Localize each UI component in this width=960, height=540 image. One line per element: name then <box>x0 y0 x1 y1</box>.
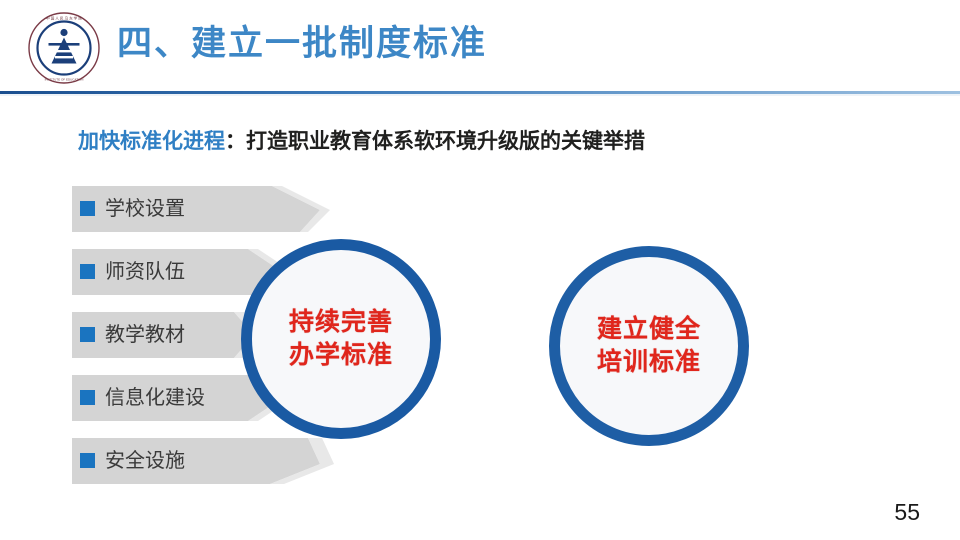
list-item-label: 安全设施 <box>105 446 185 476</box>
list-bullet-icon <box>80 390 95 405</box>
subtitle-rest: ：打造职业教育体系软环境升级版的关键举措 <box>225 130 645 153</box>
list-bullet-icon <box>80 327 95 342</box>
circle-node-training-standards[interactable]: 建立健全 培训标准 <box>549 246 749 446</box>
circle-label-line1: 持续完善 <box>289 306 393 339</box>
list-bullet-icon <box>80 264 95 279</box>
header-divider-soft <box>0 94 960 96</box>
svg-text:中 国 人 民 乌 东 学 院: 中 国 人 民 乌 东 学 院 <box>46 16 82 21</box>
page-title: 四、建立一批制度标准 <box>117 21 487 67</box>
circle-label-line1: 建立健全 <box>597 313 701 346</box>
circle-label-line2: 培训标准 <box>597 346 701 379</box>
list-item-label: 信息化建设 <box>105 383 205 413</box>
list-item-label: 教学教材 <box>105 320 185 350</box>
list-item[interactable]: 安全设施 <box>72 438 372 484</box>
slide-canvas: 中 国 人 民 乌 东 学 院 INSTITUTE OF EDUCATION 四… <box>0 0 960 540</box>
subtitle: 加快标准化进程：打造职业教育体系软环境升级版的关键举措 <box>78 127 645 157</box>
circle-node-continuous-improvement[interactable]: 持续完善 办学标准 <box>241 239 441 439</box>
subtitle-highlight: 加快标准化进程 <box>78 130 225 153</box>
list-bullet-icon <box>80 201 95 216</box>
university-seal-logo: 中 国 人 民 乌 东 学 院 INSTITUTE OF EDUCATION <box>26 10 102 86</box>
list-item[interactable]: 学校设置 <box>72 186 372 232</box>
slide-header: 中 国 人 民 乌 东 学 院 INSTITUTE OF EDUCATION 四… <box>0 0 960 94</box>
circle-label-line2: 办学标准 <box>289 339 393 372</box>
list-item-label: 师资队伍 <box>105 257 185 287</box>
list-item-label: 学校设置 <box>105 194 185 224</box>
page-number: 55 <box>894 499 920 525</box>
svg-text:INSTITUTE OF EDUCATION: INSTITUTE OF EDUCATION <box>45 78 84 82</box>
list-bullet-icon <box>80 453 95 468</box>
